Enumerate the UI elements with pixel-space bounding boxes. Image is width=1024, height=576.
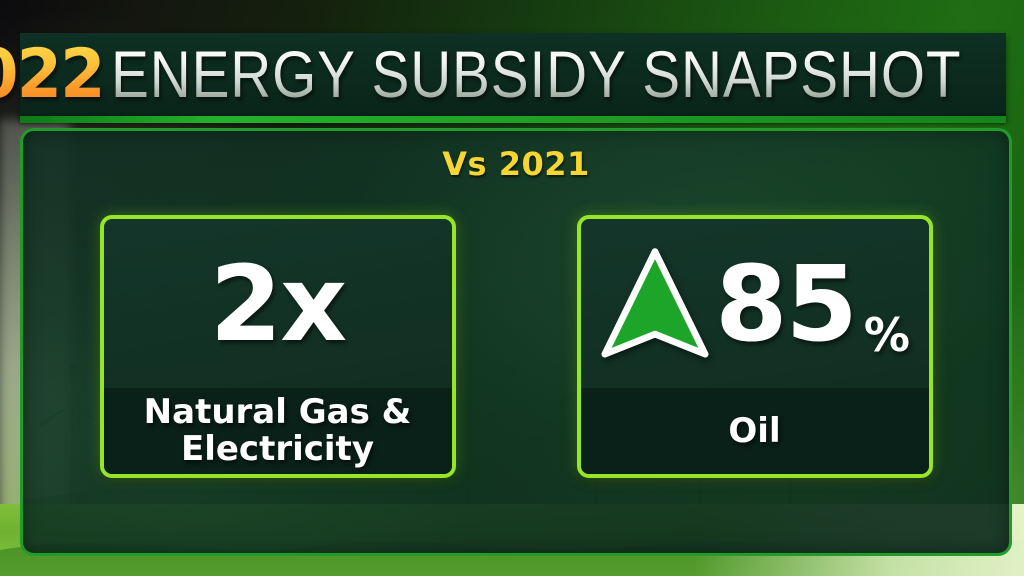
stat-value-suffix: % [864,308,910,362]
content-panel: Vs 2021 2x Natural Gas & Electricity [20,128,1012,556]
title-text: ENERGY SUBSIDY SNAPSHOT [111,41,961,107]
stat-card-label-area: Oil [581,388,929,474]
stat-label: Oil [728,413,780,450]
header-underline [20,116,1006,123]
stat-card-label-area: Natural Gas & Electricity [104,388,452,474]
comparison-subtitle: Vs 2021 [23,145,1009,183]
stat-card-natural-gas-electricity: 2x Natural Gas & Electricity [100,215,456,478]
stat-card-value-area: 2x [104,219,452,388]
header-bar: 2022 ENERGY SUBSIDY SNAPSHOT [20,33,1006,116]
stat-value: 2x [210,252,345,356]
title-year: 2022 [0,41,104,109]
stat-value: 85 [715,252,856,356]
arrow-up-icon [599,246,711,362]
stat-card-oil: 85 % Oil [577,215,933,478]
stat-label-line-1: Oil [728,411,780,451]
page-title: 2022 ENERGY SUBSIDY SNAPSHOT [0,41,1024,109]
infographic-stage: 2022 ENERGY SUBSIDY SNAPSHOT Vs 2021 2x … [0,0,1024,576]
stat-card-value-area: 85 % [581,219,929,388]
stat-label-line-2: Electricity [181,429,374,469]
stat-card-group: 2x Natural Gas & Electricity 85 % [23,215,1009,478]
stat-label-line-1: Natural Gas & [144,392,412,432]
stat-label: Natural Gas & Electricity [144,394,412,467]
